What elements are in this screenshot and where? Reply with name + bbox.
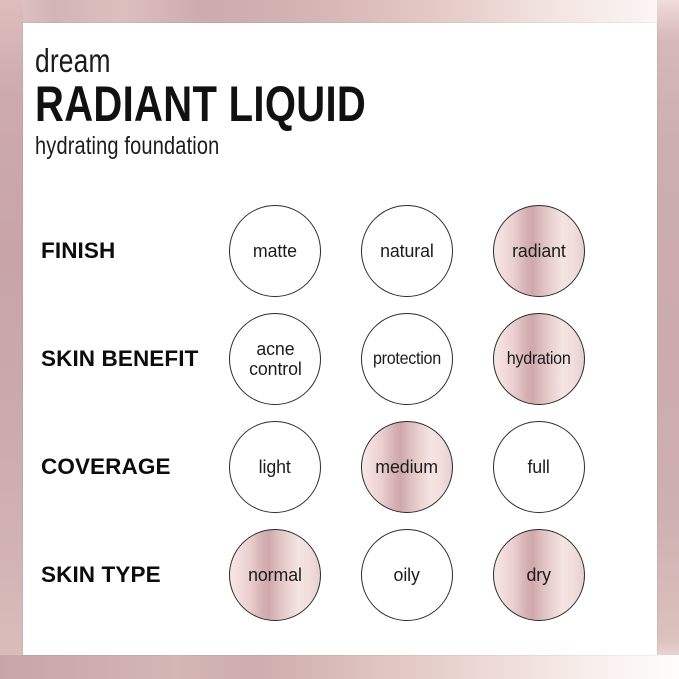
option-circle[interactable]: natural xyxy=(361,205,453,297)
option-circle[interactable]: acne control xyxy=(229,313,321,405)
option-label: radiant xyxy=(509,241,568,261)
option-circle[interactable]: light xyxy=(229,421,321,513)
option-label: hydration xyxy=(504,349,573,368)
option-label: medium xyxy=(373,457,441,477)
option-label: oily xyxy=(391,565,423,585)
attribute-grid: FINISHmattenaturalradiantSKIN BENEFITacn… xyxy=(23,197,657,629)
frame-border-left xyxy=(0,0,23,679)
option-label: acne control xyxy=(246,339,304,380)
option-label: protection xyxy=(370,349,443,368)
attribute-options: mattenaturalradiant xyxy=(229,205,585,297)
option-circle[interactable]: protection xyxy=(361,313,453,405)
attribute-row: COVERAGElightmediumfull xyxy=(23,413,657,521)
option-label: full xyxy=(525,457,553,477)
option-circle-selected[interactable]: hydration xyxy=(493,313,585,405)
brand-name-dream: dream xyxy=(35,45,371,77)
option-label: natural xyxy=(377,241,436,261)
product-descriptor-hydrating-foundation: hydrating foundation xyxy=(35,134,371,159)
option-circle-selected[interactable]: dry xyxy=(493,529,585,621)
attribute-options: lightmediumfull xyxy=(229,421,585,513)
option-circle[interactable]: matte xyxy=(229,205,321,297)
product-infographic-frame: dream RADIANT LIQUID hydrating foundatio… xyxy=(0,0,679,679)
option-circle-selected[interactable]: normal xyxy=(229,529,321,621)
attribute-options: acne controlprotectionhydration xyxy=(229,313,585,405)
option-label: matte xyxy=(250,241,300,261)
attribute-options: normaloilydry xyxy=(229,529,585,621)
option-label: light xyxy=(256,457,294,477)
frame-border-bottom xyxy=(0,655,679,679)
frame-border-right xyxy=(657,0,679,679)
option-circle[interactable]: oily xyxy=(361,529,453,621)
option-label: dry xyxy=(524,565,554,585)
attribute-row-label: COVERAGE xyxy=(41,454,171,480)
attribute-row: FINISHmattenaturalradiant xyxy=(23,197,657,305)
option-label: normal xyxy=(245,565,304,585)
attribute-row: SKIN TYPEnormaloilydry xyxy=(23,521,657,629)
option-circle-selected[interactable]: radiant xyxy=(493,205,585,297)
frame-border-top xyxy=(0,0,679,23)
attribute-row-label: FINISH xyxy=(41,238,115,264)
attribute-row-label: SKIN TYPE xyxy=(41,562,161,588)
option-circle-selected[interactable]: medium xyxy=(361,421,453,513)
brand-block: dream RADIANT LIQUID hydrating foundatio… xyxy=(35,45,455,159)
product-info-card: dream RADIANT LIQUID hydrating foundatio… xyxy=(23,23,657,655)
attribute-row: SKIN BENEFITacne controlprotectionhydrat… xyxy=(23,305,657,413)
attribute-row-label: SKIN BENEFIT xyxy=(41,346,198,372)
product-name-radiant-liquid: RADIANT LIQUID xyxy=(35,79,371,129)
option-circle[interactable]: full xyxy=(493,421,585,513)
